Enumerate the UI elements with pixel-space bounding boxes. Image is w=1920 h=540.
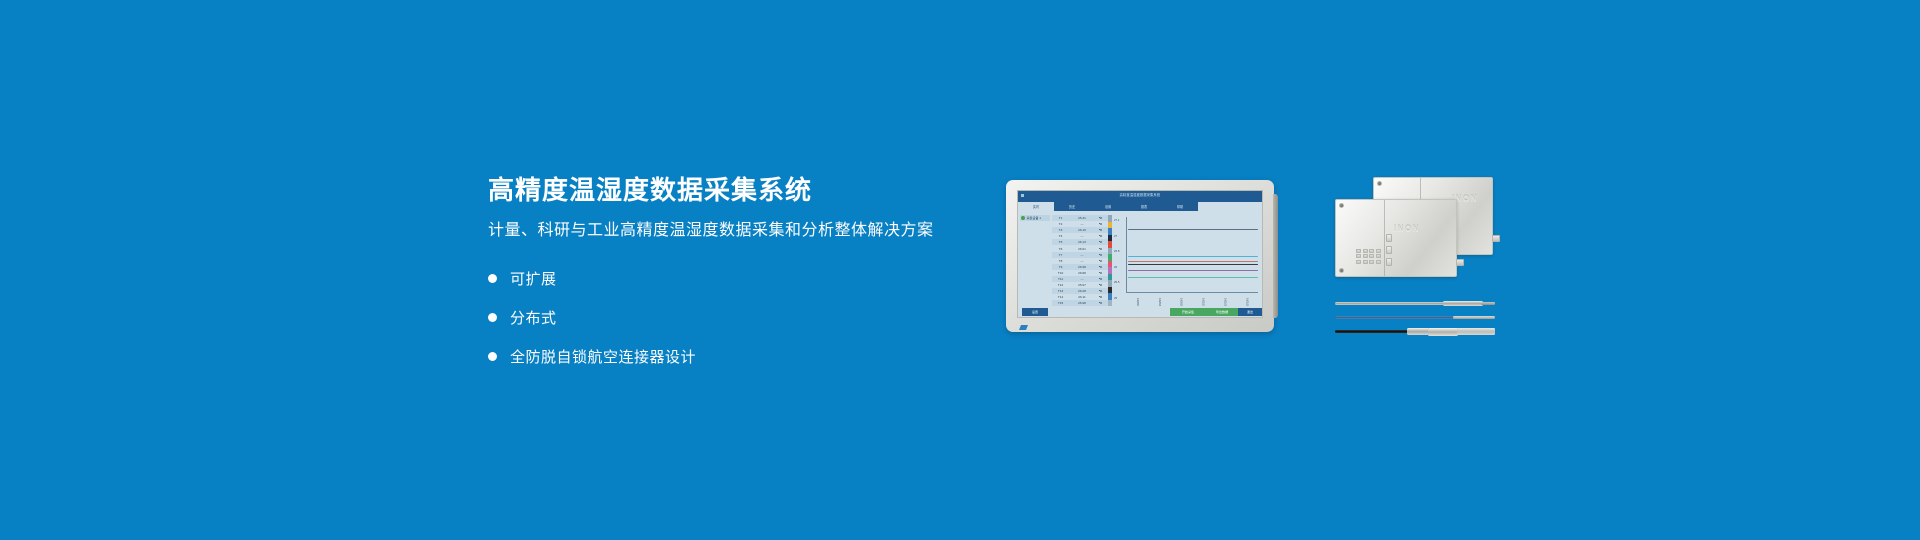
value-cell: 25.97 xyxy=(1069,283,1095,287)
channel-color-key xyxy=(1108,215,1112,306)
channel-cell: T7 xyxy=(1052,253,1069,257)
trend-chart: 27.12726.82625.52514:20:1014:20:3014:20:… xyxy=(1114,215,1260,306)
chart-y-tick: 26.8 xyxy=(1114,249,1120,253)
value-cell: 26.11 xyxy=(1069,295,1095,299)
monitor-screen: 高精度温湿度数据采集系统 实时 历史 设置 报表 帮助 采集设备 1 T125.… xyxy=(1017,190,1263,318)
channel-cell: T13 xyxy=(1052,289,1069,293)
chart-y-tick: 27.1 xyxy=(1114,218,1120,222)
bullet-dot-icon xyxy=(488,352,497,361)
channel-cell: T11 xyxy=(1052,277,1069,281)
list-item: 可扩展 xyxy=(488,263,948,293)
device-tree: 采集设备 1 xyxy=(1018,211,1052,306)
feature-label: 可扩展 xyxy=(510,268,557,289)
terminal-port xyxy=(1376,249,1381,253)
channel-cell: T14 xyxy=(1052,295,1069,299)
mounting-tab xyxy=(1456,259,1464,266)
unit-cell: ℃ xyxy=(1095,222,1106,226)
value-cell: — xyxy=(1069,222,1095,226)
chart-plot-area xyxy=(1128,217,1258,292)
probe-handle xyxy=(1443,301,1483,306)
channel-cell: T12 xyxy=(1052,283,1069,287)
chart-x-tick: 14:21:30 xyxy=(1223,298,1226,307)
terminal-port xyxy=(1376,254,1381,258)
tabbar-filler xyxy=(1198,202,1262,211)
exit-button[interactable]: 退出 xyxy=(1238,308,1262,316)
unit-cell: ℃ xyxy=(1095,259,1106,263)
panel-seam xyxy=(1384,200,1385,276)
value-cell: — xyxy=(1069,234,1095,238)
chart-x-tick: 14:20:10 xyxy=(1136,298,1139,307)
chart-y-tick: 27 xyxy=(1114,234,1118,238)
channel-cell: T15 xyxy=(1052,301,1069,305)
mounting-tab xyxy=(1492,235,1500,242)
device-label: 采集设备 1 xyxy=(1027,216,1042,220)
unit-cell: ℃ xyxy=(1095,271,1106,275)
screw-icon xyxy=(1339,268,1344,273)
brand-logo: INON xyxy=(1394,224,1420,233)
page-title: 高精度温湿度数据采集系统 xyxy=(488,176,948,205)
terminal-port xyxy=(1363,254,1368,258)
channel-cell: T1 xyxy=(1052,216,1069,220)
terminal-port xyxy=(1356,254,1361,258)
monitor-stand xyxy=(1020,323,1044,330)
tab-help[interactable]: 帮助 xyxy=(1162,202,1198,211)
chart-y-tick: 25.5 xyxy=(1114,280,1120,284)
export-data-button[interactable]: 导出数据 xyxy=(1206,308,1238,316)
app-tabbar: 实时 历史 设置 报表 帮助 xyxy=(1018,200,1262,211)
value-cell: 26.13 xyxy=(1069,240,1095,244)
channel-cell: T8 xyxy=(1052,259,1069,263)
terminal-port xyxy=(1369,260,1374,264)
start-acquisition-button[interactable]: 开始采集 xyxy=(1170,308,1206,316)
probe-connector xyxy=(1407,328,1429,334)
probe-cable xyxy=(1335,330,1411,333)
chart-series-line xyxy=(1128,270,1258,271)
unit-cell: ℃ xyxy=(1095,234,1106,238)
chart-y-tick: 26 xyxy=(1114,265,1118,269)
channel-cell: T3 xyxy=(1052,228,1069,232)
settings-button[interactable]: 设置 xyxy=(1022,308,1048,316)
connector-icon xyxy=(1386,246,1392,254)
table-row[interactable]: T1526.98℃ xyxy=(1052,300,1108,306)
unit-cell: ℃ xyxy=(1095,247,1106,251)
tab-settings[interactable]: 设置 xyxy=(1090,202,1126,211)
value-cell: 26.19 xyxy=(1069,228,1095,232)
terminal-port xyxy=(1369,249,1374,253)
value-cell: 26.98 xyxy=(1069,301,1095,305)
channel-cell: T2 xyxy=(1052,222,1069,226)
probe-tip xyxy=(1481,302,1495,305)
chart-series-line xyxy=(1128,264,1258,265)
chart-x-tick: 14:20:30 xyxy=(1158,298,1161,307)
unit-cell: ℃ xyxy=(1095,289,1106,293)
chart-series-line xyxy=(1128,277,1258,278)
chart-y-axis xyxy=(1126,217,1127,292)
terminal-block xyxy=(1356,249,1381,264)
terminal-port xyxy=(1363,249,1368,253)
tab-report[interactable]: 报表 xyxy=(1126,202,1162,211)
color-key-segment xyxy=(1108,300,1112,307)
device-tree-node[interactable]: 采集设备 1 xyxy=(1020,215,1050,221)
monitor-side-edge xyxy=(1273,194,1278,318)
unit-cell: ℃ xyxy=(1095,228,1106,232)
terminal-port xyxy=(1376,260,1381,264)
channel-cell: T10 xyxy=(1052,271,1069,275)
unit-cell: ℃ xyxy=(1095,295,1106,299)
monitor-device: 高精度温湿度数据采集系统 实时 历史 设置 报表 帮助 采集设备 1 T125.… xyxy=(1006,180,1274,332)
probe-cable xyxy=(1335,316,1457,319)
unit-cell: ℃ xyxy=(1095,253,1106,257)
chart-series-line xyxy=(1128,256,1258,257)
unit-cell: ℃ xyxy=(1095,240,1106,244)
app-titlebar: 高精度温湿度数据采集系统 xyxy=(1018,191,1262,200)
page-subtitle: 计量、科研与工业高精度温湿度数据采集和分析整体解决方案 xyxy=(488,221,948,242)
chart-y-tick: 25 xyxy=(1114,296,1118,300)
feature-list: 可扩展 分布式 全防脱自锁航空连接器设计 xyxy=(488,263,948,371)
value-cell: 26.98 xyxy=(1069,265,1095,269)
value-cell: 26.28 xyxy=(1069,289,1095,293)
chart-series-line xyxy=(1128,261,1258,262)
feature-label: 分布式 xyxy=(510,307,557,328)
channel-cell: T9 xyxy=(1052,265,1069,269)
product-banner: 高精度温湿度数据采集系统 计量、科研与工业高精度温湿度数据采集和分析整体解决方案… xyxy=(0,0,1920,540)
value-cell: 26.88 xyxy=(1069,271,1095,275)
sensor-probes xyxy=(1335,302,1495,348)
unit-cell: ℃ xyxy=(1095,277,1106,281)
channel-cell: T4 xyxy=(1052,234,1069,238)
unit-cell: ℃ xyxy=(1095,216,1106,220)
list-item: 全防脱自锁航空连接器设计 xyxy=(488,341,948,371)
app-body: 采集设备 1 T125.31℃T2—℃T326.19℃T4—℃T526.13℃T… xyxy=(1018,211,1262,306)
chart-x-tick: 14:21:10 xyxy=(1202,298,1205,307)
connector-group xyxy=(1386,234,1392,266)
value-cell: — xyxy=(1069,253,1095,257)
status-dot-icon xyxy=(1021,216,1025,220)
unit-cell: ℃ xyxy=(1095,301,1106,305)
terminal-port xyxy=(1363,260,1368,264)
list-item: 分布式 xyxy=(488,302,948,332)
connector-icon xyxy=(1386,234,1392,242)
probe-shaft xyxy=(1453,316,1495,319)
connector-icon xyxy=(1386,258,1392,266)
bullet-dot-icon xyxy=(488,274,497,283)
unit-cell: ℃ xyxy=(1095,265,1106,269)
copy-block: 高精度温湿度数据采集系统 计量、科研与工业高精度温湿度数据采集和分析整体解决方案… xyxy=(488,176,948,380)
app-footer: 设置 开始采集 导出数据 退出 xyxy=(1018,306,1262,317)
terminal-port xyxy=(1356,249,1361,253)
feature-label: 全防脱自锁航空连接器设计 xyxy=(510,346,696,367)
tab-realtime[interactable]: 实时 xyxy=(1018,202,1054,211)
screw-icon xyxy=(1377,181,1382,186)
value-cell: 25.31 xyxy=(1069,216,1095,220)
unit-cell: ℃ xyxy=(1095,283,1106,287)
value-cell: 26.61 xyxy=(1069,247,1095,251)
value-cell: — xyxy=(1069,277,1095,281)
probe-nut xyxy=(1428,328,1458,336)
channel-cell: T5 xyxy=(1052,240,1069,244)
screw-icon xyxy=(1339,203,1344,208)
channel-cell: T6 xyxy=(1052,247,1069,251)
probe-shaft xyxy=(1335,302,1447,305)
tab-history[interactable]: 历史 xyxy=(1054,202,1090,211)
module-front: INON xyxy=(1335,199,1457,277)
probe-tip xyxy=(1457,328,1495,335)
value-cell: — xyxy=(1069,259,1095,263)
app-title: 高精度温湿度数据采集系统 xyxy=(1018,191,1262,200)
chart-x-tick: 14:20:50 xyxy=(1180,298,1183,307)
acquisition-modules: INON INON xyxy=(1335,177,1495,287)
terminal-port xyxy=(1356,260,1361,264)
channel-table: T125.31℃T2—℃T326.19℃T4—℃T526.13℃T626.61℃… xyxy=(1052,211,1108,306)
bullet-dot-icon xyxy=(488,313,497,322)
chart-x-tick: 14:21:50 xyxy=(1245,298,1248,307)
chart-series-line xyxy=(1128,229,1258,230)
terminal-port xyxy=(1369,254,1374,258)
